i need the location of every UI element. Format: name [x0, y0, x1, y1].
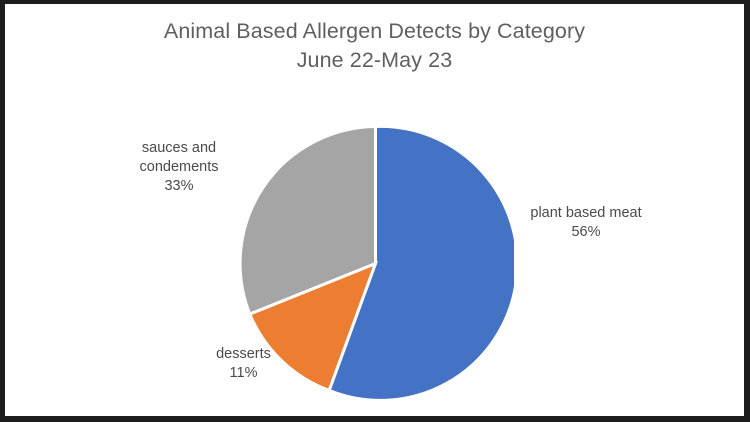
pie-label-desserts: desserts 11%	[191, 345, 296, 383]
page-border-bottom	[0, 416, 750, 422]
pie-label-sauces-and-condements-value: 33%	[123, 177, 235, 196]
pie-label-desserts-value: 11%	[191, 364, 296, 383]
pie-label-sauces-and-condements: sauces and condements 33%	[123, 139, 235, 196]
pie-label-plant-based-meat-value: 56%	[517, 223, 655, 242]
pie-label-sauces-and-condements-name-line2: condements	[140, 159, 219, 175]
pie-label-sauces-and-condements-name-line1: sauces and	[142, 140, 216, 156]
pie-label-plant-based-meat: plant based meat 56%	[517, 204, 655, 242]
chart-page: Animal Based Allergen Detects by Categor…	[0, 0, 750, 422]
chart-title: Animal Based Allergen Detects by Categor…	[5, 17, 744, 75]
pie-label-plant-based-meat-name: plant based meat	[530, 205, 641, 221]
chart-title-line2: June 22-May 23	[5, 46, 744, 75]
chart-title-line1: Animal Based Allergen Detects by Categor…	[164, 19, 585, 43]
pie-label-desserts-name: desserts	[216, 346, 271, 362]
page-border-right	[744, 0, 750, 422]
chart-canvas: Animal Based Allergen Detects by Categor…	[5, 4, 744, 416]
